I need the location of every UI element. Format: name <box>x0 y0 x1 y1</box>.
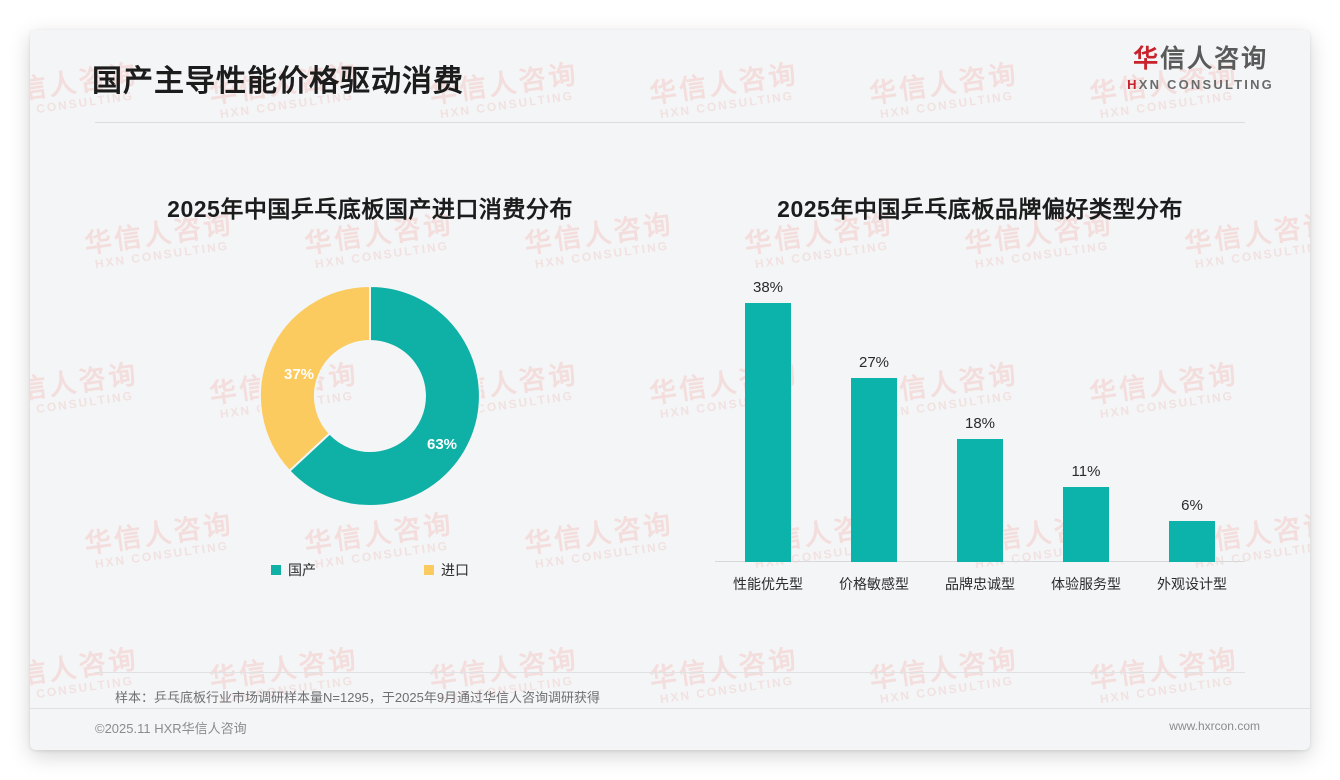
legend-label-import: 进口 <box>441 560 469 580</box>
bar-chart-title: 2025年中国乒乓底板品牌偏好类型分布 <box>680 190 1280 224</box>
donut-chart-title: 2025年中国乒乓底板国产进口消费分布 <box>70 190 670 224</box>
header-divider <box>95 122 1245 123</box>
sample-note: 样本：乒乓底板行业市场调研样本量N=1295，于2025年9月通过华信人咨询调研… <box>115 687 600 706</box>
donut-legend: 国产 进口 <box>70 560 670 580</box>
slide-header: 国产主导性能价格驱动消费 华信人咨询 HXN CONSULTING <box>30 30 1310 124</box>
donut-slice-import[interactable] <box>260 286 370 471</box>
bar-category-label: 品牌忠诚型 <box>930 574 1030 594</box>
brand-logo: 华信人咨询 HXN CONSULTING <box>1127 46 1274 92</box>
bar-category-label: 外观设计型 <box>1142 574 1242 594</box>
bar-category-label: 价格敏感型 <box>824 574 924 594</box>
bar-value-label: 18% <box>965 415 995 432</box>
bar-category-label: 性能优先型 <box>718 574 818 594</box>
bar-value-label: 38% <box>753 279 783 296</box>
legend-swatch-domestic <box>271 565 281 575</box>
legend-label-domestic: 国产 <box>288 560 316 580</box>
donut-label-domestic: 63% <box>427 436 457 453</box>
brand-logo-en-first: H <box>1127 77 1139 92</box>
brand-logo-cn-rest: 信人咨询 <box>1160 45 1268 73</box>
donut-chart-panel: 2025年中国乒乓底板国产进口消费分布 63% 37% 国产 进口 <box>70 190 670 660</box>
bar-chart: 38%性能优先型27%价格敏感型18%品牌忠诚型11%体验服务型6%外观设计型 <box>715 262 1245 562</box>
bar-column[interactable]: 18% <box>930 262 1030 562</box>
donut-chart-svg <box>250 276 490 516</box>
watermark-en: HXN CONSULTING <box>1092 673 1242 708</box>
bar-chart-panel: 2025年中国乒乓底板品牌偏好类型分布 38%性能优先型27%价格敏感型18%品… <box>680 190 1280 660</box>
bar-rect[interactable] <box>1169 521 1215 562</box>
donut-chart: 63% 37% <box>250 276 490 516</box>
bar-value-label: 11% <box>1072 463 1101 480</box>
bar-rect[interactable] <box>745 303 791 562</box>
donut-label-import: 37% <box>284 366 314 383</box>
legend-item-domestic[interactable]: 国产 <box>271 560 316 580</box>
copyright-text: ©2025.11 HXR华信人咨询 <box>95 718 247 737</box>
brand-logo-cn: 华信人咨询 <box>1127 46 1274 74</box>
bar-rect[interactable] <box>957 439 1003 562</box>
bar-rect[interactable] <box>851 378 897 562</box>
bar-rect[interactable] <box>1063 487 1109 562</box>
brand-logo-en-rest: XN CONSULTING <box>1139 77 1274 92</box>
legend-item-import[interactable]: 进口 <box>424 560 469 580</box>
brand-logo-cn-first: 华 <box>1133 45 1160 73</box>
bar-column[interactable]: 11% <box>1036 262 1136 562</box>
slide-canvas: 华信人咨询HXN CONSULTING华信人咨询HXN CONSULTING华信… <box>30 30 1310 750</box>
page-title: 国产主导性能价格驱动消费 <box>92 56 464 100</box>
bar-value-label: 6% <box>1181 497 1203 514</box>
footer-divider <box>30 708 1310 709</box>
brand-logo-en: HXN CONSULTING <box>1127 77 1274 92</box>
legend-swatch-import <box>424 565 434 575</box>
sample-divider <box>95 672 1245 673</box>
bar-column[interactable]: 6% <box>1142 262 1242 562</box>
watermark-en: HXN CONSULTING <box>872 673 1022 708</box>
website-link[interactable]: www.hxrcon.com <box>1169 719 1260 733</box>
bar-column[interactable]: 38% <box>718 262 818 562</box>
bar-category-label: 体验服务型 <box>1036 574 1136 594</box>
bar-value-label: 27% <box>859 354 889 371</box>
watermark-en: HXN CONSULTING <box>652 673 802 708</box>
bar-column[interactable]: 27% <box>824 262 924 562</box>
